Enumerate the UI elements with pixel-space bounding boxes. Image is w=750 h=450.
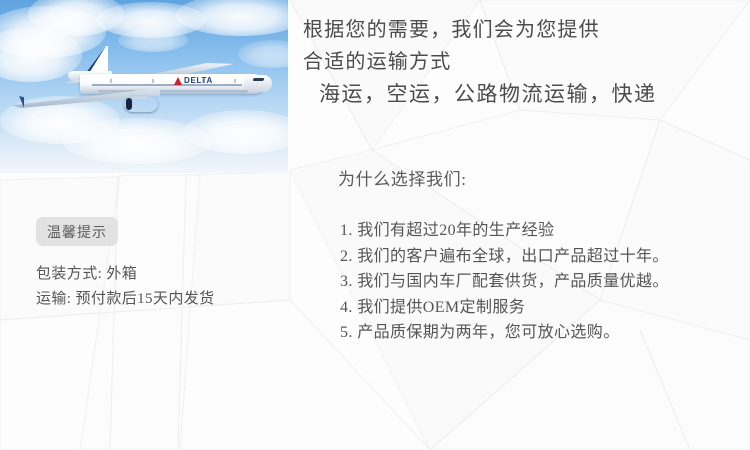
delta-logo: DELTA	[174, 77, 213, 85]
engine-nacelle	[124, 96, 158, 112]
airplane-photo: DELTA	[0, 0, 288, 173]
headline-block: 根据您的需要，我们会为您提供 合适的运输方式 海运，空运，公路物流运输，快递	[303, 14, 657, 110]
cockpit-window	[253, 78, 265, 81]
headline-line-3: 海运，空运，公路物流运输，快递	[303, 78, 657, 110]
list-item: 2. 我们的客户遍布全球，出口产品超过十年。	[340, 244, 669, 270]
cabin-door	[110, 79, 112, 83]
list-item: 3. 我们与国内车厂配套供货，产品质量优越。	[340, 269, 669, 295]
list-item: 1. 我们有超过20年的生产经验	[340, 218, 669, 244]
tips-shipping-line: 运输: 预付款后15天内发货	[36, 287, 215, 312]
promo-banner: DELTA 根据您的需要，我们会为您提供 合适的运输方式 海运，空运，公路物流运…	[0, 0, 750, 450]
headline-line-1: 根据您的需要，我们会为您提供	[303, 14, 657, 46]
tips-badge: 温馨提示	[36, 217, 118, 246]
tips-detail-block: 包装方式: 外箱 运输: 预付款后15天内发货	[36, 262, 215, 312]
list-item: 5. 产品质保期为两年，您可放心选购。	[340, 320, 669, 346]
headline-line-2: 合适的运输方式	[303, 46, 657, 78]
tips-packaging-line: 包装方式: 外箱	[36, 262, 215, 287]
cabin-door	[234, 79, 236, 83]
cabin-door	[152, 79, 154, 83]
cheatline	[92, 84, 242, 86]
delta-triangle-icon	[174, 77, 182, 85]
list-item: 4. 我们提供OEM定制服务	[340, 295, 669, 321]
why-choose-us-title: 为什么选择我们:	[338, 165, 467, 190]
airplane-graphic: DELTA	[6, 44, 286, 128]
delta-wordmark: DELTA	[184, 77, 213, 85]
reasons-list: 1. 我们有超过20年的生产经验 2. 我们的客户遍布全球，出口产品超过十年。 …	[340, 218, 669, 346]
